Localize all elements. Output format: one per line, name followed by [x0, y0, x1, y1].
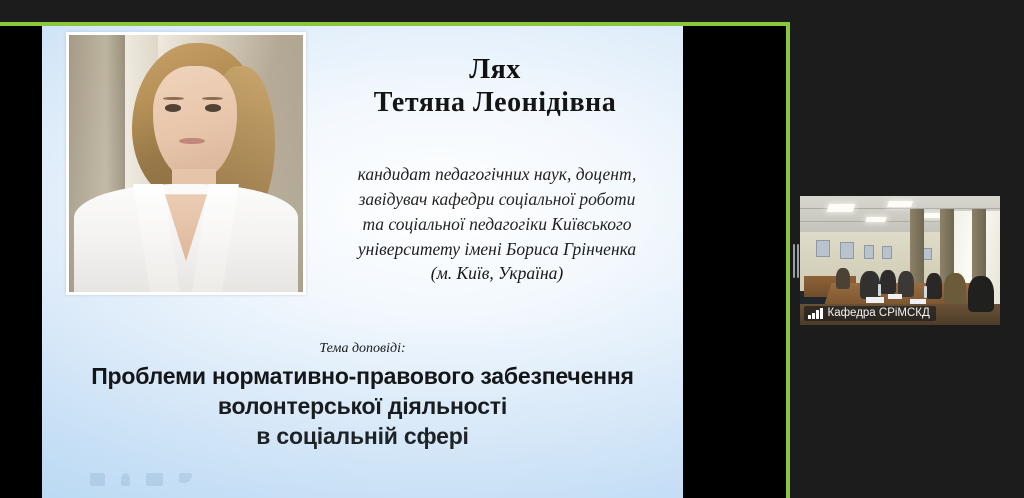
- paper-sheet: [888, 294, 902, 299]
- speaker-credentials: кандидат педагогічних наук, доцент, заві…: [312, 162, 682, 286]
- participant-figure: [968, 276, 994, 312]
- picture-icon: [90, 473, 105, 486]
- accent-bar-right: [786, 22, 790, 498]
- accent-bar-top: [0, 22, 790, 26]
- speaker-surname: Лях: [320, 54, 670, 86]
- participant-name-badge: Кафедра СРіМСКД: [804, 306, 936, 321]
- drag-handle-icon[interactable]: [793, 244, 799, 278]
- paper-sheet: [910, 299, 926, 304]
- water-bottle: [878, 284, 881, 296]
- speaker-given-name: Тетяна Леонідівна: [320, 86, 670, 120]
- credentials-line: університету імені Бориса Грінченка: [312, 237, 682, 262]
- chart-icon: [121, 473, 130, 486]
- ceiling-light: [887, 201, 913, 207]
- presentation-slide[interactable]: Лях Тетяна Леонідівна кандидат педагогіч…: [42, 26, 683, 498]
- wall-picture: [882, 246, 892, 259]
- speaker-photo-frame: [66, 32, 306, 295]
- credentials-line: та соціальної педагогіки Київського: [312, 212, 682, 237]
- topic-title: Проблеми нормативно-правового забезпечен…: [52, 362, 673, 452]
- speaker-photo: [69, 35, 303, 292]
- topic-title-line: Проблеми нормативно-правового забезпечен…: [52, 362, 673, 392]
- wall-picture: [840, 242, 854, 259]
- credentials-line: (м. Київ, Україна): [312, 261, 682, 286]
- credentials-line: кандидат педагогічних наук, доцент,: [312, 162, 682, 187]
- participant-figure: [860, 271, 880, 299]
- participant-figure: [944, 273, 966, 304]
- topic-title-line: в соціальній сфері: [52, 422, 673, 452]
- ceiling-light: [865, 217, 887, 222]
- media-icon: [179, 473, 192, 483]
- signal-bars-icon: [808, 308, 823, 319]
- participant-figure: [926, 273, 942, 299]
- participant-figure: [836, 268, 850, 289]
- wall-picture: [816, 240, 830, 257]
- paper-sheet: [866, 297, 884, 303]
- ceiling-light: [827, 204, 856, 212]
- participant-figure: [880, 270, 896, 295]
- participant-video-tile[interactable]: Кафедра СРіМСКД: [800, 196, 1000, 325]
- participant-name: Кафедра СРіМСКД: [828, 307, 930, 319]
- table-icon: [146, 473, 163, 486]
- topic-title-line: волонтерської діяльності: [52, 392, 673, 422]
- slide-placeholder-icons: [90, 473, 192, 486]
- topic-label: Тема доповіді:: [42, 341, 683, 357]
- window-top-letterbox: [0, 0, 1024, 22]
- water-bottle: [924, 286, 927, 298]
- wall-picture: [864, 245, 874, 259]
- credentials-line: завідувач кафедри соціальної роботи: [312, 187, 682, 212]
- participant-figure: [898, 271, 914, 297]
- speaker-name-block: Лях Тетяна Леонідівна: [320, 54, 670, 121]
- screen-root: Лях Тетяна Леонідівна кандидат педагогіч…: [0, 0, 1024, 498]
